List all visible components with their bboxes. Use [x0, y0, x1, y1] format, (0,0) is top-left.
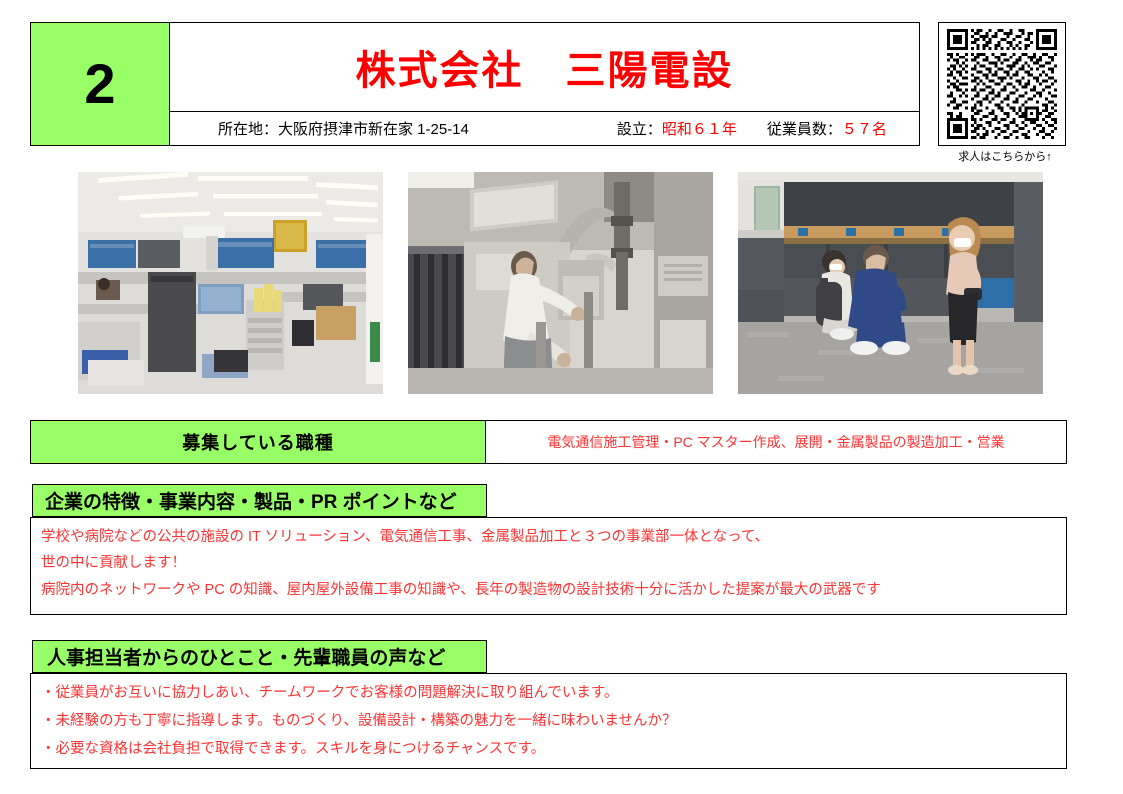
employees-label: 従業員数：	[767, 121, 842, 138]
company-profile-page: 2 株式会社 三陽電設 所在地：大阪府摂津市新在家 1-25-14 設立：昭和６…	[0, 0, 1123, 794]
founded-value: 昭和６１年	[662, 121, 737, 138]
company-address: 所在地：大阪府摂津市新在家 1-25-14	[218, 118, 469, 139]
employees-value: ５７名	[842, 121, 887, 138]
installation-work-illustration	[408, 172, 713, 394]
company-info-bar: 所在地：大阪府摂津市新在家 1-25-14 設立：昭和６１年 従業員数：５７名	[170, 112, 920, 146]
company-features-line: 学校や病院などの公共の施設の IT ソリューション、電気通信工事、金属製品加工と…	[41, 526, 1066, 548]
recruiting-positions-section: 募集している職種 電気通信施工管理・PC マスター作成、展開・金属製品の製造加工…	[30, 420, 1067, 464]
electrical-installation-work-photo	[408, 172, 713, 394]
entry-number-box: 2	[30, 22, 170, 146]
hr-voice-heading: 人事担当者からのひとこと・先輩職員の声など	[32, 640, 487, 673]
employees-field: 従業員数：５７名	[767, 118, 887, 139]
company-features-line: 世の中に貢献します！	[41, 552, 1066, 574]
meeting-illustration	[738, 172, 1043, 394]
hr-voice-line: ・従業員がお互いに協力しあい、チームワークでお客様の問題解決に取り組んでいます。	[41, 682, 1066, 705]
qr-caption: 求人はこちらから↑	[930, 148, 1080, 164]
hr-voice-line: ・必要な資格は会社負担で取得できます。スキルを身につけるチャンスです。	[41, 738, 1066, 761]
photo-row	[78, 172, 1053, 394]
company-name-box: 株式会社 三陽電設	[170, 22, 920, 112]
company-features-body: 学校や病院などの公共の施設の IT ソリューション、電気通信工事、金属製品加工と…	[30, 517, 1067, 615]
founded-label: 設立：	[617, 121, 662, 138]
hr-voice-body: ・従業員がお互いに協力しあい、チームワークでお客様の問題解決に取り組んでいます。…	[30, 673, 1067, 769]
recruiting-positions-label: 募集している職種	[30, 420, 486, 464]
company-features-line: 病院内のネットワークや PC の知識、屋内屋外設備工事の知識や、長年の製造物の設…	[41, 579, 1066, 601]
company-features-heading: 企業の特徴・事業内容・製品・PR ポイントなど	[32, 484, 487, 517]
office-interior-illustration	[78, 172, 383, 394]
facility-setup-meeting-photo	[738, 172, 1043, 394]
hr-voice-line: ・未経験の方も丁寧に指導します。ものづくり、設備設計・構築の魅力を一緒に味わいま…	[41, 710, 1066, 733]
qr-code[interactable]	[938, 22, 1066, 146]
header: 2 株式会社 三陽電設 所在地：大阪府摂津市新在家 1-25-14 設立：昭和６…	[30, 22, 1067, 146]
entry-number: 2	[84, 56, 115, 112]
recruiting-positions-value: 電気通信施工管理・PC マスター作成、展開・金属製品の製造加工・営業	[486, 420, 1067, 464]
page-title: 株式会社 三陽電設	[356, 38, 734, 96]
office-interior-photo	[78, 172, 383, 394]
qr-code-icon	[947, 29, 1057, 139]
founded-field: 設立：昭和６１年	[617, 118, 737, 139]
